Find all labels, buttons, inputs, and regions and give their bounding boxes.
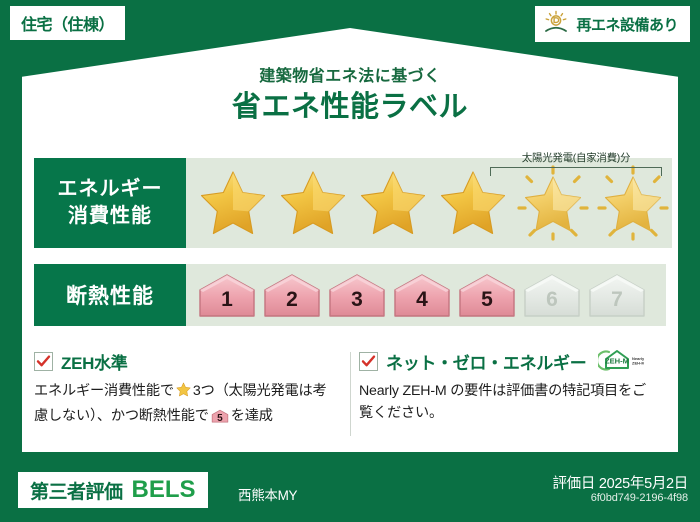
third-party-eval-label: 第三者評価 xyxy=(30,477,123,504)
insulation-grade-3: 3 xyxy=(326,270,388,320)
svg-text:ZEH-M: ZEH-M xyxy=(632,360,644,365)
zeh-m-logo: ZEH-M Nearly ZEH-M xyxy=(598,346,644,376)
info-divider xyxy=(350,352,351,436)
label-board: 住宅（住棟） 再エネ設備あり 建築物省エネ法に基づく 省エネ性能ラベル xyxy=(0,0,700,522)
insulation-grade-7: 7 xyxy=(586,270,648,320)
energy-performance-row: エネルギー 消費性能 xyxy=(34,158,666,248)
house-grade-icon: 5 xyxy=(211,408,229,432)
page-title: 省エネ性能ラベル xyxy=(0,83,700,125)
renewable-badge-label: 再エネ設備あり xyxy=(576,14,678,35)
energy-performance-value xyxy=(186,158,672,248)
star-solar xyxy=(594,163,672,243)
checkmark-icon xyxy=(359,352,378,371)
star-filled xyxy=(434,163,512,243)
star-filled xyxy=(274,163,352,243)
insulation-label-text: 断熱性能 xyxy=(66,280,154,310)
insulation-performance-row: 断熱性能 1 xyxy=(34,264,666,326)
insulation-performance-label: 断熱性能 xyxy=(34,264,186,326)
house-grade-icon-value: 5 xyxy=(211,411,229,426)
zeh-standard-body: エネルギー消費性能で3つ（太陽光発電は考慮しない）、かつ断熱性能で5を達成 xyxy=(34,381,327,431)
star-rating-strip xyxy=(186,163,672,243)
evaluation-id: 6f0bd749-2196-4f98 xyxy=(591,492,688,504)
insulation-grade-4-value: 4 xyxy=(391,288,453,312)
star-solar xyxy=(514,163,592,243)
net-zero-energy-body: Nearly ZEH-M の要件は評価書の特記項目をご覧ください。 xyxy=(359,381,652,424)
net-zero-energy-block: ネット・ゼロ・エネルギー ZEH-M Nearly ZEH-M Nearly Z… xyxy=(341,348,666,444)
svg-text:ZEH-M: ZEH-M xyxy=(605,356,629,365)
star-filled xyxy=(354,163,432,243)
insulation-grade-5: 5 xyxy=(456,270,518,320)
energy-label-line2: 消費性能 xyxy=(68,203,152,230)
zeh-body-part1: エネルギー消費性能で xyxy=(34,383,174,399)
insulation-grade-5-value: 5 xyxy=(456,288,518,312)
star-filled xyxy=(194,163,272,243)
insulation-grade-1-value: 1 xyxy=(196,288,258,312)
star-icon xyxy=(175,381,192,406)
category-chip: 住宅（住棟） xyxy=(10,6,125,40)
insulation-grade-2-value: 2 xyxy=(261,288,323,312)
insulation-grade-strip: 1 2 3 xyxy=(186,270,648,320)
footer: 第三者評価 BELS 西熊本MY 評価日 2025年5月2日 6f0bd749-… xyxy=(0,460,700,522)
evaluation-date: 評価日 2025年5月2日 xyxy=(552,472,688,493)
insulation-grade-7-value: 7 xyxy=(586,288,648,312)
building-name: 西熊本MY xyxy=(238,484,297,504)
insulation-performance-value: 1 2 3 xyxy=(186,264,666,326)
net-zero-energy-title: ネット・ゼロ・エネルギー xyxy=(386,349,586,374)
bels-certification-box: 第三者評価 BELS xyxy=(18,472,208,508)
checkmark-icon xyxy=(34,352,53,371)
insulation-grade-4: 4 xyxy=(391,270,453,320)
energy-performance-label: エネルギー 消費性能 xyxy=(34,158,186,248)
zeh-body-part3: を達成 xyxy=(231,408,273,424)
zeh-standard-title: ZEH水準 xyxy=(61,349,128,374)
category-chip-label: 住宅（住棟） xyxy=(21,11,114,35)
insulation-grade-2: 2 xyxy=(261,270,323,320)
energy-label-line1: エネルギー xyxy=(58,176,163,203)
solar-sun-icon xyxy=(543,10,569,39)
zeh-standard-heading: ZEH水準 xyxy=(34,348,327,374)
renewable-equipment-badge: 再エネ設備あり xyxy=(535,6,690,42)
bels-logo-text: BELS xyxy=(132,476,196,504)
insulation-grade-6-value: 6 xyxy=(521,288,583,312)
net-zero-energy-heading: ネット・ゼロ・エネルギー ZEH-M Nearly ZEH-M xyxy=(359,348,652,374)
insulation-grade-6: 6 xyxy=(521,270,583,320)
insulation-grade-3-value: 3 xyxy=(326,288,388,312)
insulation-grade-1: 1 xyxy=(196,270,258,320)
zeh-standard-block: ZEH水準 エネルギー消費性能で3つ（太陽光発電は考慮しない）、かつ断熱性能で5… xyxy=(34,348,341,444)
